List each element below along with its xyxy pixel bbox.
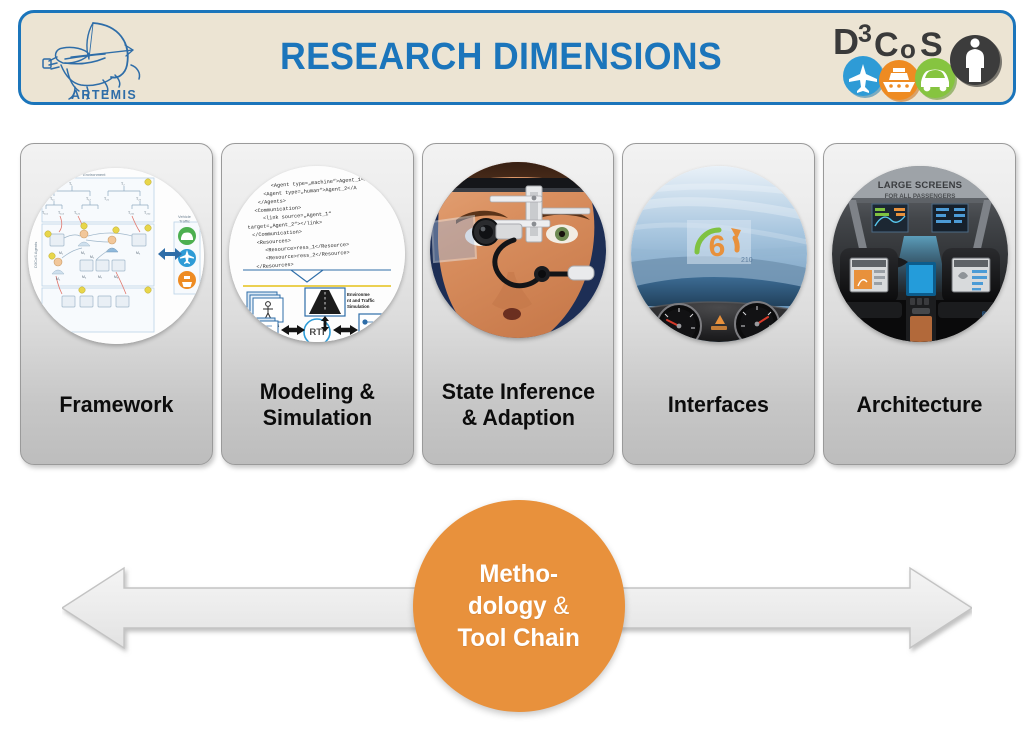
- svg-text:Traffic: Traffic: [179, 219, 190, 224]
- artemis-logo: ARTEMIS: [31, 17, 159, 103]
- card-state-inference-adaption[interactable]: State Inference & Adaption: [422, 143, 615, 465]
- svg-text:M₃: M₃: [136, 251, 141, 255]
- card-label: Modeling & Simulation: [227, 350, 408, 460]
- svg-text:T₂₁: T₂₁: [104, 197, 110, 201]
- svg-text:T₁₂: T₁₂: [86, 197, 91, 201]
- card-label: Architecture: [829, 350, 1010, 460]
- svg-text:D3CoS Agents: D3CoS Agents: [33, 242, 38, 268]
- card-architecture[interactable]: LARGE SCREENS FOR ALL PASSENGERS: [823, 143, 1016, 465]
- svg-text:3: 3: [858, 20, 872, 48]
- svg-text:M₄: M₄: [56, 277, 61, 281]
- method-line-3: Tool Chain: [458, 624, 580, 652]
- research-dimension-cards: Environment D3CoS Agents T₁T₂ T₁₁T₁₂ T₂₁…: [20, 143, 1016, 465]
- framework-diagram-thumbnail: Environment D3CoS Agents T₁T₂ T₁₁T₁₂ T₂₁…: [28, 168, 204, 344]
- header-banner: ARTEMIS RESEARCH DIMENSIONS: [18, 10, 1016, 105]
- methodology-tool-chain-label: Metho- dology & Tool Chain: [458, 558, 580, 654]
- card-framework[interactable]: Environment D3CoS Agents T₁T₂ T₁₁T₁₂ T₂₁…: [20, 143, 213, 465]
- svg-text:M₈: M₈: [114, 275, 119, 279]
- card-label: State Inference & Adaption: [427, 350, 608, 460]
- card-label: Framework: [26, 350, 207, 460]
- slide-canvas: ARTEMIS RESEARCH DIMENSIONS: [0, 0, 1034, 738]
- car-interior-photo-thumbnail: LARGE SCREENS FOR ALL PASSENGERS: [832, 166, 1008, 342]
- svg-text:M₂: M₂: [81, 251, 86, 255]
- page-title: RESEARCH DIMENSIONS: [191, 13, 811, 102]
- head-up-display-photo-thumbnail: 6 210: [631, 166, 807, 342]
- eye-tracking-photo-thumbnail: [430, 162, 606, 338]
- svg-text:D: D: [833, 21, 859, 62]
- methodology-tool-chain-circle[interactable]: Metho- dology & Tool Chain: [413, 500, 625, 712]
- svg-text:o: o: [900, 34, 916, 64]
- svg-text:Environment: Environment: [83, 172, 106, 177]
- svg-text:C: C: [874, 26, 899, 64]
- svg-text:T₁₁₁: T₁₁₁: [42, 211, 49, 215]
- svg-text:Environme: Environme: [347, 292, 370, 297]
- svg-text:nt and Traffic: nt and Traffic: [347, 298, 375, 303]
- svg-text:T₂₂: T₂₂: [136, 197, 142, 201]
- modeling-simulation-thumbnail: <Agent type=„machine“>Agent_1</ <Agent t…: [229, 166, 405, 342]
- hud-speed-value: 210: [741, 257, 753, 264]
- architecture-overlay-subtitle: FOR ALL PASSENGERS: [884, 193, 955, 200]
- svg-text:M₆: M₆: [82, 275, 87, 279]
- card-modeling-simulation[interactable]: <Agent type=„machine“>Agent_1</ <Agent t…: [221, 143, 414, 465]
- method-line-2: dology: [468, 592, 553, 620]
- method-ampersand: &: [554, 592, 570, 620]
- card-interfaces[interactable]: 6 210: [622, 143, 815, 465]
- method-line-1: Metho-: [480, 560, 559, 588]
- artemis-logo-caption: ARTEMIS: [71, 88, 137, 102]
- svg-text:T₂₂₁: T₂₂₁: [128, 211, 135, 215]
- d3cos-wordmark: D 3 C o S: [833, 20, 943, 64]
- svg-text:T₂: T₂: [121, 182, 125, 186]
- svg-text:M₅: M₅: [90, 255, 95, 259]
- svg-text:T₁₂₁: T₁₂₁: [74, 211, 81, 215]
- d3cos-logo: D 3 C o S: [825, 16, 1003, 102]
- svg-text:Simulation: Simulation: [347, 304, 370, 309]
- svg-text:S: S: [920, 26, 943, 64]
- svg-text:T₂₂₂: T₂₂₂: [144, 211, 151, 215]
- svg-text:T₁₁: T₁₁: [50, 197, 55, 201]
- svg-text:T₁₁₂: T₁₁₂: [58, 211, 65, 215]
- architecture-overlay-title: LARGE SCREENS: [877, 180, 961, 191]
- card-label: Interfaces: [628, 350, 809, 460]
- hud-gear-value: 6: [708, 230, 725, 263]
- svg-text:BL: BL: [982, 312, 990, 318]
